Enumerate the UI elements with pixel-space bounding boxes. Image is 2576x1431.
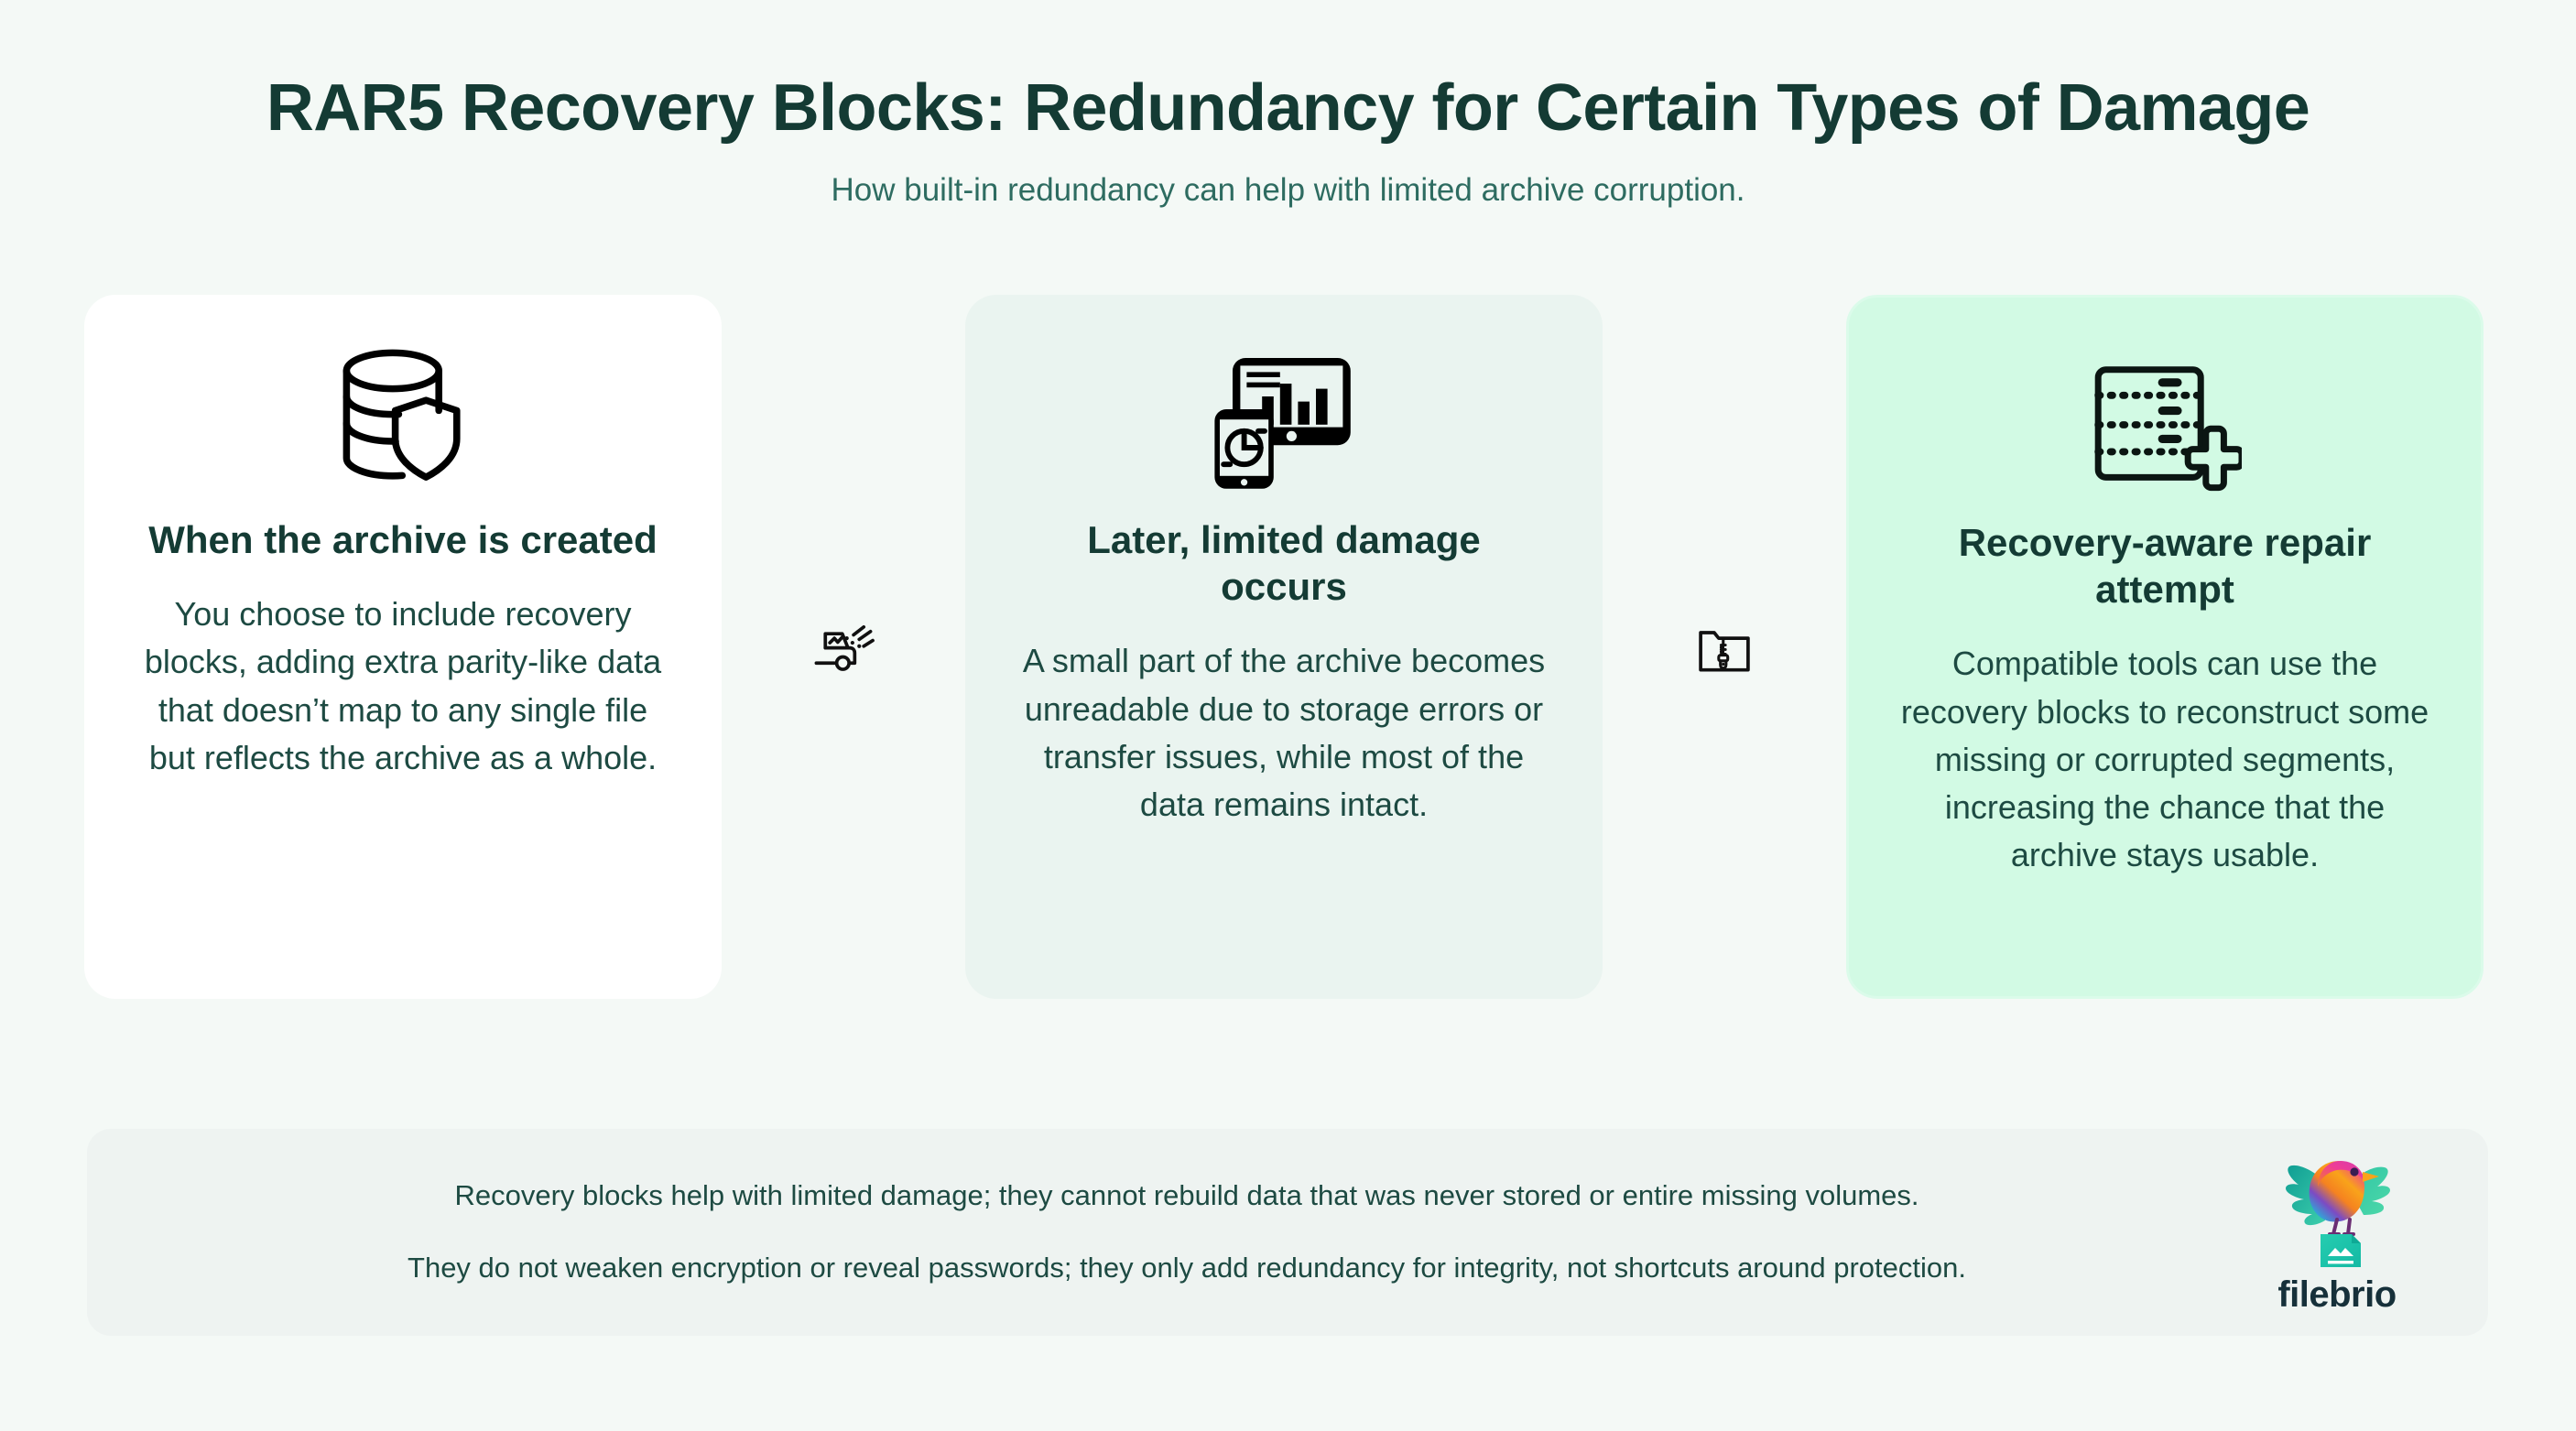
page-subtitle: How built-in redundancy can help with li… [0,171,2576,210]
tablet-phone-charts-icon [1207,339,1361,493]
step-card-damage-occurs: Later, limited damage occurs A small par… [965,295,1603,999]
car-windshield-damage-icon [810,613,877,681]
footer-notes-panel: Recovery blocks help with limited damage… [87,1129,2488,1336]
step-card-body: You choose to include recovery blocks, a… [137,591,668,782]
connector-1 [799,295,887,999]
server-stack-plus-icon [2088,341,2242,495]
connector-2 [1680,295,1768,999]
step-card-body: Compatible tools can use the recovery bl… [1899,640,2430,879]
steps-row: When the archive is created You choose t… [84,295,2484,1000]
infographic-header: RAR5 Recovery Blocks: Redundancy for Cer… [0,0,2576,210]
zipped-folder-icon [1690,613,1758,681]
step-card-title: Later, limited damage occurs [1027,516,1540,610]
footer-notes: Recovery blocks help with limited damage… [87,1177,2213,1287]
brand-name: filebrio [2277,1274,2396,1316]
step-card-title: Recovery-aware repair attempt [1908,519,2421,613]
step-card-repair-attempt: Recovery-aware repair attempt Compatible… [1846,295,2484,999]
page-title: RAR5 Recovery Blocks: Redundancy for Cer… [0,71,2576,146]
step-card-title: When the archive is created [148,516,658,563]
filebrio-bird-logo-icon [2264,1150,2410,1271]
footer-note: They do not weaken encryption or reveal … [197,1250,2177,1287]
brand-logo: filebrio [2213,1150,2488,1316]
step-card-archive-created: When the archive is created You choose t… [84,295,722,999]
footer-note: Recovery blocks help with limited damage… [197,1177,2177,1215]
database-shield-icon [326,339,480,493]
step-card-body: A small part of the archive becomes unre… [1018,637,1549,829]
